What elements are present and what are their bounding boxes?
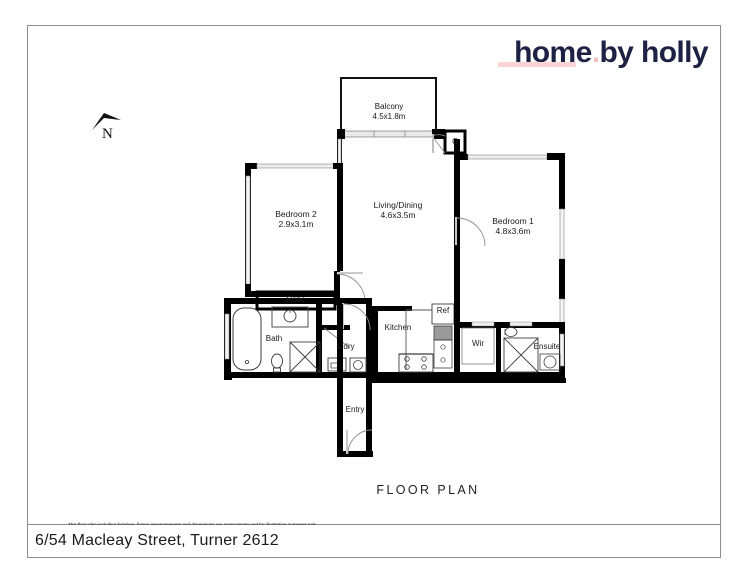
floor-plan-caption: FLOOR PLAN xyxy=(358,483,498,497)
floor-plan-drawing xyxy=(28,26,722,526)
room-label-refrigerator: Ref xyxy=(432,306,454,316)
room-label-robe: Robe xyxy=(262,295,330,305)
room-label-bedroom-1: Bedroom 1 4.8x3.6m xyxy=(475,216,551,237)
plan-walls xyxy=(224,78,566,457)
floor-plan-page: home.by holly N xyxy=(27,25,721,525)
address-bar: 6/54 Macleay Street, Turner 2612 xyxy=(27,525,721,558)
room-label-balcony: Balcony 4.5x1.8m xyxy=(356,102,422,122)
room-label-kitchen: Kitchen xyxy=(375,323,421,333)
room-label-wir: Wir xyxy=(464,339,492,349)
room-label-bedroom-2: Bedroom 2 2.9x3.1m xyxy=(258,209,334,230)
room-label-laundry: L'dry xyxy=(324,342,368,352)
room-label-entry: Entry xyxy=(340,405,370,415)
property-address: 6/54 Macleay Street, Turner 2612 xyxy=(28,532,279,550)
room-label-ensuite: Ensuite xyxy=(529,342,565,352)
room-label-bath: Bath xyxy=(252,334,296,344)
room-label-closet: C xyxy=(446,137,464,147)
room-label-living-dining: Living/Dining 4.6x3.5m xyxy=(358,200,438,221)
